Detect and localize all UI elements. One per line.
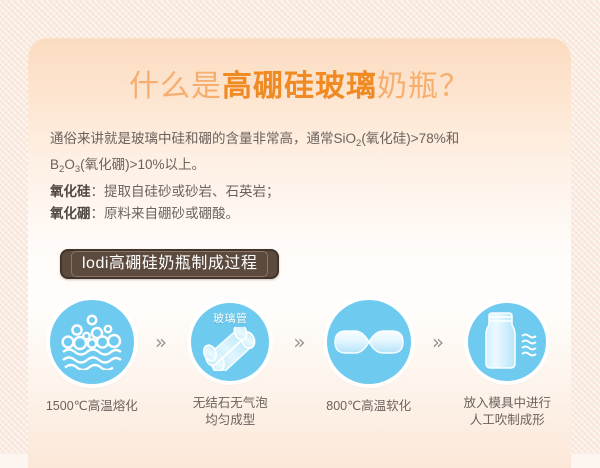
process-step-4-icon-circle	[468, 303, 546, 381]
softened-glass-icon	[333, 322, 405, 362]
chevron-double-right-icon: »	[155, 332, 167, 352]
process-step-4-caption-line-1: 放入模具中进行	[463, 395, 551, 412]
description-line-2: B2O3(氧化硼)>10%以上。	[50, 154, 560, 180]
process-arrow-1: »	[148, 300, 175, 384]
spec-item-boron: 氧化硼：原料来自硼砂或硼酸。	[50, 203, 560, 224]
process-step-1-icon-circle	[50, 300, 134, 384]
process-step-1: 1500℃高温熔化	[36, 300, 148, 415]
process-step-2-caption: 无结石无气泡 均匀成型	[193, 395, 268, 429]
chevron-double-right-icon: »	[432, 332, 444, 352]
process-step-1-caption-line-1: 1500℃高温熔化	[46, 398, 138, 415]
process-step-2-caption-line-1: 无结石无气泡	[193, 395, 268, 412]
process-step-2-caption-line-2: 均匀成型	[193, 412, 268, 429]
section-banner: lodi高硼硅奶瓶制成过程	[60, 249, 279, 279]
description-block: 通俗来讲就是玻璃中硅和硼的含量非常高，通常SiO2(氧化硅)>78%和 B2O3…	[50, 128, 560, 224]
process-step-3: 800℃高温软化	[313, 300, 425, 415]
process-step-2: 玻璃管	[174, 300, 286, 429]
spec-item-boron-label: 氧化硼	[50, 206, 91, 221]
process-arrow-2: »	[286, 300, 313, 384]
page-title-suffix: 奶瓶？	[377, 70, 470, 103]
description-line-2-part-c: (氧化硼)>10%以上。	[80, 157, 205, 172]
process-step-2-icon-circle: 玻璃管	[191, 303, 269, 381]
process-step-3-caption: 800℃高温软化	[326, 398, 411, 415]
spec-item-silica-value: ：提取自硅砂或砂岩、石英岩；	[91, 184, 280, 199]
process-step-4-caption-line-2: 人工吹制成形	[463, 412, 551, 429]
bubbles-waves-icon	[61, 314, 123, 370]
page-title-highlight: 高硼硅玻璃	[222, 70, 377, 103]
process-step-1-caption: 1500℃高温熔化	[46, 398, 138, 415]
glass-tubes-icon	[199, 327, 261, 371]
process-step-4: 放入模具中进行 人工吹制成形	[451, 300, 563, 429]
page-title-prefix: 什么是	[129, 70, 222, 103]
content-panel: 什么是高硼硅玻璃奶瓶？ 通俗来讲就是玻璃中硅和硼的含量非常高，通常SiO2(氧化…	[28, 38, 571, 468]
process-step-2-inner-label: 玻璃管	[191, 310, 269, 326]
process-step-3-icon-circle	[327, 300, 411, 384]
description-line-1: 通俗来讲就是玻璃中硅和硼的含量非常高，通常SiO2(氧化硅)>78%和	[50, 128, 560, 154]
spec-item-silica-label: 氧化硅	[50, 184, 91, 199]
description-line-1-part-b: (氧化硅)>78%和	[361, 131, 459, 146]
page-title: 什么是高硼硅玻璃奶瓶？	[28, 69, 571, 105]
section-banner-label: lodi高硼硅奶瓶制成过程	[71, 251, 268, 277]
description-line-1-part-a: 通俗来讲就是玻璃中硅和硼的含量非常高，通常SiO	[50, 131, 356, 146]
process-flow: 1500℃高温熔化 » 玻璃管	[36, 300, 563, 429]
glass-bottle-icon	[472, 310, 542, 374]
description-line-2-part-b: O	[64, 157, 75, 172]
process-arrow-3: »	[425, 300, 452, 384]
spec-item-silica: 氧化硅：提取自硅砂或砂岩、石英岩；	[50, 181, 560, 202]
description-line-2-part-a: B	[50, 157, 59, 172]
spec-item-boron-value: ：原料来自硼砂或硼酸。	[91, 206, 240, 221]
chevron-double-right-icon: »	[293, 332, 305, 352]
process-step-4-caption: 放入模具中进行 人工吹制成形	[463, 395, 551, 429]
process-step-3-caption-line-1: 800℃高温软化	[326, 398, 411, 415]
